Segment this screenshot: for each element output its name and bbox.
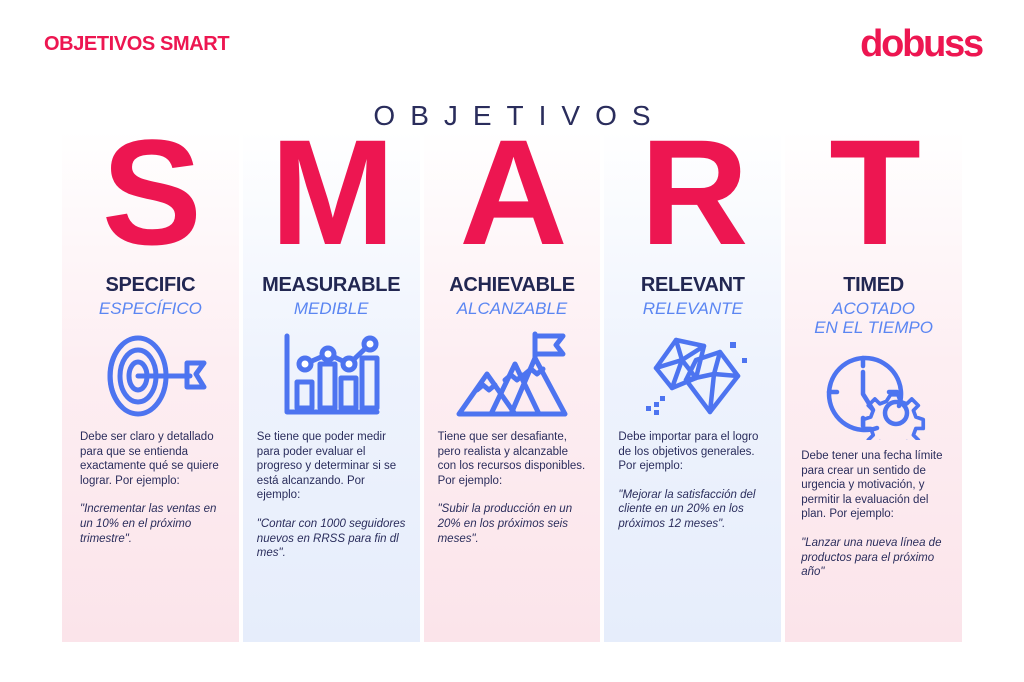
- column-body-specific: Debe ser claro y detallado para que se e…: [62, 430, 239, 546]
- infographic-page: OBJETIVOS SMART dobuss OBJETIVOS S SPECI…: [0, 0, 1024, 682]
- brand-logo: dobuss: [860, 25, 982, 63]
- column-timed: T TIMED ACOTADO EN EL TIEMPO: [785, 130, 962, 642]
- description-timed: Debe tener una fecha límite para crear u…: [801, 449, 948, 522]
- diamonds-icon: [634, 324, 752, 428]
- column-specific: S SPECIFIC ESPECÍFICO Debe ser claro y d…: [62, 130, 239, 642]
- smart-columns: S SPECIFIC ESPECÍFICO Debe ser claro y d…: [62, 130, 962, 642]
- description-measurable: Se tiene que poder medir para poder eval…: [257, 430, 406, 503]
- example-specific: "Incrementar las ventas en un 10% en el …: [80, 502, 225, 546]
- target-arrow-icon: [92, 324, 208, 428]
- column-title-en-specific: SPECIFIC: [105, 274, 195, 297]
- page-title: OBJETIVOS SMART: [44, 33, 229, 56]
- column-title-en-timed: TIMED: [843, 274, 904, 297]
- column-achievable: A ACHIEVABLE ALCANZABLE: [424, 130, 601, 642]
- column-title-en-achievable: ACHIEVABLE: [449, 274, 575, 297]
- example-achievable: "Subir la producción en un 20% en los pr…: [438, 502, 587, 546]
- example-measurable: "Contar con 1000 seguidores nuevos en RR…: [257, 517, 406, 561]
- column-title-es-achievable: ALCANZABLE: [457, 299, 568, 318]
- column-title-es-timed: ACOTADO EN EL TIEMPO: [814, 299, 933, 337]
- example-relevant: "Mejorar la satisfacción del cliente en …: [618, 488, 767, 532]
- column-relevant: R RELEVANT RELEVANTE: [604, 130, 781, 642]
- column-title-es-relevant: RELEVANTE: [643, 299, 743, 318]
- column-title-es-specific: ESPECÍFICO: [99, 299, 202, 318]
- column-title-en-measurable: MEASURABLE: [262, 274, 400, 297]
- clock-gear-icon: [821, 343, 927, 447]
- big-letter-t: T: [829, 130, 918, 266]
- column-measurable: M MEASURABLE MEDIBLE: [243, 130, 420, 642]
- column-body-timed: Debe tener una fecha límite para crear u…: [785, 449, 962, 580]
- big-letter-m: M: [270, 130, 392, 266]
- big-letter-r: R: [640, 130, 745, 266]
- big-letter-s: S: [102, 130, 199, 266]
- column-body-relevant: Debe importar para el logro de los objet…: [604, 430, 781, 532]
- description-achievable: Tiene que ser desafiante, pero realista …: [438, 430, 587, 488]
- column-title-es-measurable: MEDIBLE: [294, 299, 369, 318]
- column-body-measurable: Se tiene que poder medir para poder eval…: [243, 430, 420, 561]
- big-letter-a: A: [459, 130, 564, 266]
- column-title-en-relevant: RELEVANT: [641, 274, 745, 297]
- bar-chart-icon: [279, 324, 383, 428]
- description-relevant: Debe importar para el logro de los objet…: [618, 430, 767, 474]
- description-specific: Debe ser claro y detallado para que se e…: [80, 430, 225, 488]
- mountain-flag-icon: [453, 324, 571, 428]
- column-body-achievable: Tiene que ser desafiante, pero realista …: [424, 430, 601, 546]
- example-timed: "Lanzar una nueva línea de productos par…: [801, 536, 948, 580]
